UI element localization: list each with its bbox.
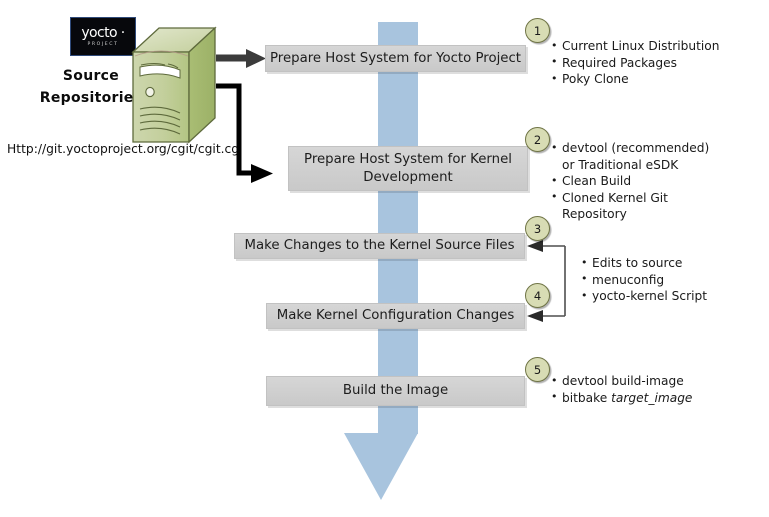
step-number: 5: [534, 363, 541, 377]
arrow-source-to-step1: [216, 49, 266, 68]
process-box-prepare-host-kernel[interactable]: Prepare Host System for Kernel Developme…: [288, 146, 528, 191]
list-item: Current Linux Distribution: [550, 38, 765, 55]
bullet-list-step5: devtool build-image bitbake target_image: [550, 373, 765, 406]
bullet-list-steps3-4: Edits to source menuconfig yocto-kernel …: [580, 255, 769, 305]
list-item: Cloned Kernel Git Repository: [550, 190, 725, 223]
list-item: yocto-kernel Script: [580, 288, 769, 305]
step-number-badge-4: 4: [525, 283, 550, 308]
step-number-badge-1: 1: [525, 18, 550, 43]
list-item: menuconfig: [580, 272, 769, 289]
process-box-label-line2: Development: [363, 170, 453, 185]
process-box-label: Prepare Host System for Yocto Project: [270, 50, 521, 68]
bullet-list-step1: Current Linux Distribution Required Pack…: [550, 38, 765, 88]
list-item: Poky Clone: [550, 71, 765, 88]
step-number-badge-2: 2: [525, 127, 550, 152]
list-item-variable: target_image: [611, 391, 692, 405]
process-box-label: Make Changes to the Kernel Source Files: [244, 237, 514, 255]
process-box-make-source-changes[interactable]: Make Changes to the Kernel Source Files: [234, 233, 525, 259]
process-box-prepare-host-yocto[interactable]: Prepare Host System for Yocto Project: [265, 45, 526, 72]
process-box-label: Make Kernel Configuration Changes: [277, 307, 515, 325]
process-box-label: Prepare Host System for Kernel Developme…: [304, 151, 512, 187]
list-item: Required Packages: [550, 55, 765, 72]
step-number: 3: [534, 222, 541, 236]
list-item: bitbake target_image: [550, 390, 765, 407]
step-number: 2: [534, 133, 541, 147]
list-item: devtool (recommended) or Traditional eSD…: [550, 140, 725, 173]
process-box-make-config-changes[interactable]: Make Kernel Configuration Changes: [266, 303, 525, 329]
arrow-source-to-step2: [216, 86, 273, 183]
process-box-label: Build the Image: [343, 382, 448, 400]
step-number-badge-5: 5: [525, 357, 550, 382]
step-number: 1: [534, 24, 541, 38]
list-item: devtool build-image: [550, 373, 765, 390]
process-box-build-image[interactable]: Build the Image: [266, 376, 525, 406]
list-item: Edits to source: [580, 255, 769, 272]
process-box-label-line1: Prepare Host System for Kernel: [304, 152, 512, 167]
bracket-step3-step4: [527, 240, 565, 322]
list-item: Clean Build: [550, 173, 725, 190]
bullet-list-step2: devtool (recommended) or Traditional eSD…: [550, 140, 725, 223]
diagram-canvas: yocto · PROJECT Source Repositories Http…: [0, 0, 769, 517]
step-number: 4: [534, 289, 541, 303]
step-number-badge-3: 3: [525, 216, 550, 241]
list-item-prefix: bitbake: [562, 391, 611, 405]
